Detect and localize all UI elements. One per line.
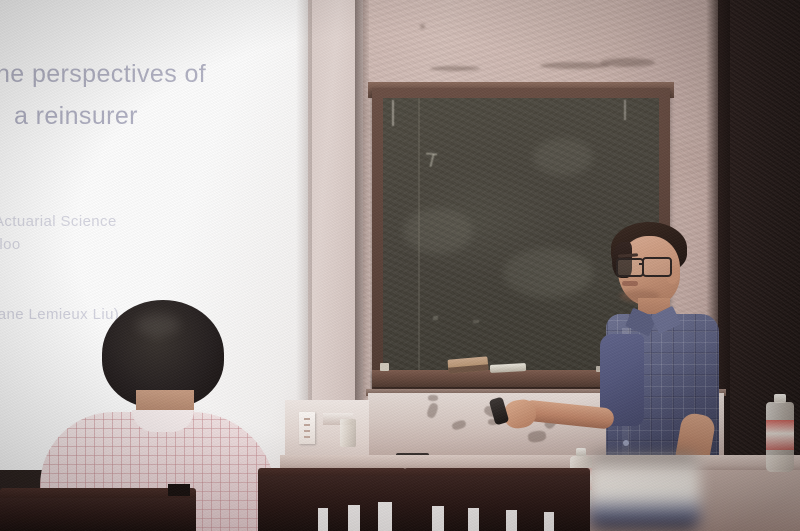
audience-hair-highlight: [136, 314, 180, 336]
chair-slat-gap: [544, 512, 554, 531]
paper-sign-text-line: [304, 436, 310, 438]
chalk-mark: [473, 320, 479, 323]
presenter: [600, 218, 725, 473]
paper-sign-text-line: [304, 418, 310, 420]
slide-affiliation-line-2: rloo: [0, 236, 21, 253]
chalk-smudge: [533, 138, 593, 176]
chair-slat-gap: [378, 502, 392, 531]
eyeglasses-bridge: [639, 263, 644, 265]
chalkboard-seam: [418, 98, 420, 373]
paper-sign-text-line: [304, 430, 310, 432]
paper-sign[interactable]: [299, 412, 315, 444]
foreground-blurred-object: [588, 452, 700, 531]
chair-slat-gap: [468, 508, 479, 531]
wall-scuff-mark: [430, 66, 480, 71]
eyeglasses-right-lens: [642, 257, 672, 277]
lecture-room-photo: he perspectives of a reinsurer Actuarial…: [0, 0, 800, 531]
podium-left-panel: [285, 400, 369, 457]
wall-scuff-mark: [600, 58, 655, 67]
chalk-streak: [624, 100, 626, 120]
chalk-mark: [433, 316, 438, 320]
chalk-smudge: [403, 208, 473, 254]
bottle-label: [766, 420, 794, 450]
chair-post-left: [168, 484, 190, 496]
chair-slat-gap: [318, 508, 328, 531]
eyeglasses-left-lens: [616, 258, 644, 277]
chalk-smudge: [503, 248, 593, 298]
chair-back-left[interactable]: [0, 498, 196, 531]
presenter-mouth: [622, 281, 638, 286]
cup-on-lectern[interactable]: [340, 419, 356, 447]
chalk-streak: [392, 100, 394, 126]
tray-chalk-bit: [380, 363, 389, 371]
shirt-button: [623, 440, 629, 446]
slide-title-line-2: a reinsurer: [14, 102, 138, 131]
chair-slat-gap: [348, 505, 360, 531]
lectern-scuff: [426, 402, 440, 419]
wall-spot: [420, 24, 425, 29]
paper-sign-text-line: [304, 424, 310, 426]
lectern-scuff: [428, 395, 438, 401]
cup-body: [340, 419, 356, 447]
slide-affiliation-line-1: Actuarial Science: [0, 213, 117, 230]
lectern-scuff: [451, 419, 467, 431]
chair-slat-gap: [506, 510, 517, 531]
slide-title-line-1: he perspectives of: [0, 60, 206, 89]
water-bottle-right[interactable]: [766, 394, 794, 472]
lectern-scuff: [527, 430, 546, 443]
chair-slat-gap: [432, 506, 444, 531]
